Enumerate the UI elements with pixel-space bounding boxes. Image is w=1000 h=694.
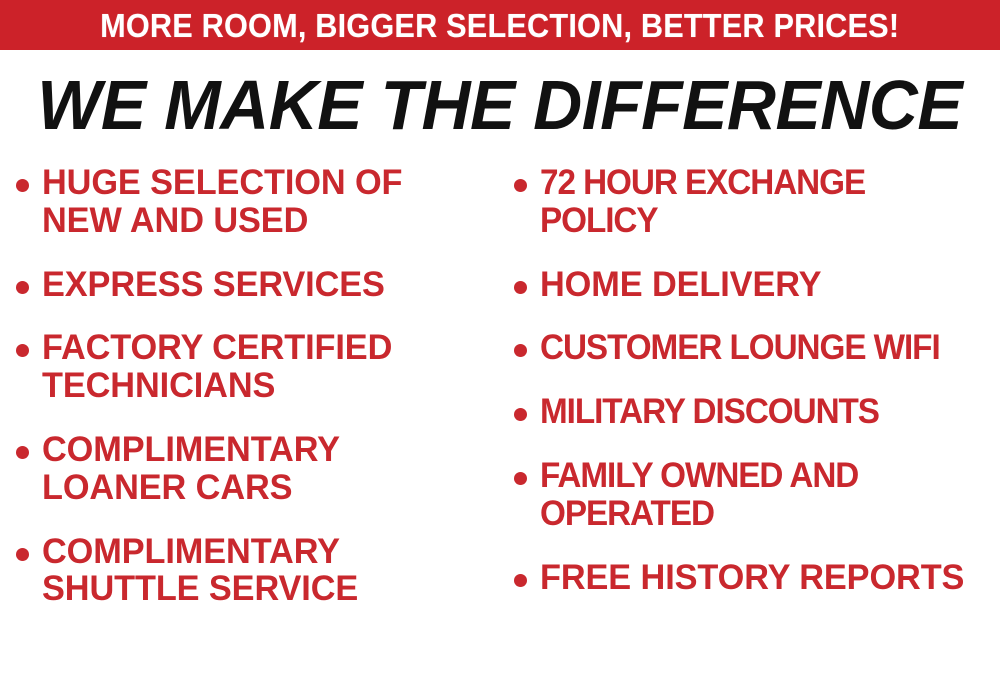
- list-item-label: HOME DELIVERY: [540, 266, 821, 304]
- bullet-dot-icon: [16, 548, 29, 561]
- benefits-column-left: HUGE SELECTION OF NEW AND USED EXPRESS S…: [0, 164, 500, 634]
- list-item-label: HUGE SELECTION OF NEW AND USED: [42, 164, 483, 240]
- list-item-label: COMPLIMENTARY SHUTTLE SERVICE: [42, 533, 483, 609]
- bullet-dot-icon: [514, 344, 527, 357]
- promo-banner-text: MORE ROOM, BIGGER SELECTION, BETTER PRIC…: [100, 9, 899, 42]
- list-item-label: MILITARY DISCOUNTS: [540, 393, 879, 431]
- bullet-dot-icon: [514, 472, 527, 485]
- list-item: COMPLIMENTARY SHUTTLE SERVICE: [16, 533, 492, 609]
- list-item-label: CUSTOMER LOUNGE WIFI: [540, 329, 940, 367]
- list-item: FREE HISTORY REPORTS: [514, 559, 996, 597]
- promo-banner: MORE ROOM, BIGGER SELECTION, BETTER PRIC…: [0, 0, 1000, 50]
- benefits-column-right: 72 HOUR EXCHANGE POLICY HOME DELIVERY CU…: [500, 164, 1000, 634]
- bullet-dot-icon: [16, 179, 29, 192]
- list-item-label: FAMILY OWNED AND OPERATED: [540, 457, 973, 533]
- bullet-dot-icon: [16, 446, 29, 459]
- list-item-label: FACTORY CERTIFIED TECHNICIANS: [42, 329, 483, 405]
- list-item-label: FREE HISTORY REPORTS: [540, 559, 964, 597]
- list-item: EXPRESS SERVICES: [16, 266, 492, 304]
- bullet-dot-icon: [514, 408, 527, 421]
- page-title: WE MAKE THE DIFFERENCE: [38, 70, 963, 140]
- bullet-dot-icon: [16, 344, 29, 357]
- bullet-dot-icon: [514, 179, 527, 192]
- list-item: COMPLIMENTARY LOANER CARS: [16, 431, 492, 507]
- list-item-label: COMPLIMENTARY LOANER CARS: [42, 431, 483, 507]
- list-item: MILITARY DISCOUNTS: [514, 393, 996, 431]
- headline-container: WE MAKE THE DIFFERENCE: [0, 60, 1000, 150]
- bullet-dot-icon: [514, 574, 527, 587]
- list-item: 72 HOUR EXCHANGE POLICY: [514, 164, 996, 240]
- list-item-label: 72 HOUR EXCHANGE POLICY: [540, 164, 973, 240]
- list-item: CUSTOMER LOUNGE WIFI: [514, 329, 996, 367]
- list-item-label: EXPRESS SERVICES: [42, 266, 385, 304]
- list-item: FACTORY CERTIFIED TECHNICIANS: [16, 329, 492, 405]
- list-item: HUGE SELECTION OF NEW AND USED: [16, 164, 492, 240]
- benefits-columns: HUGE SELECTION OF NEW AND USED EXPRESS S…: [0, 150, 1000, 634]
- bullet-dot-icon: [16, 281, 29, 294]
- list-item: HOME DELIVERY: [514, 266, 996, 304]
- list-item: FAMILY OWNED AND OPERATED: [514, 457, 996, 533]
- bullet-dot-icon: [514, 281, 527, 294]
